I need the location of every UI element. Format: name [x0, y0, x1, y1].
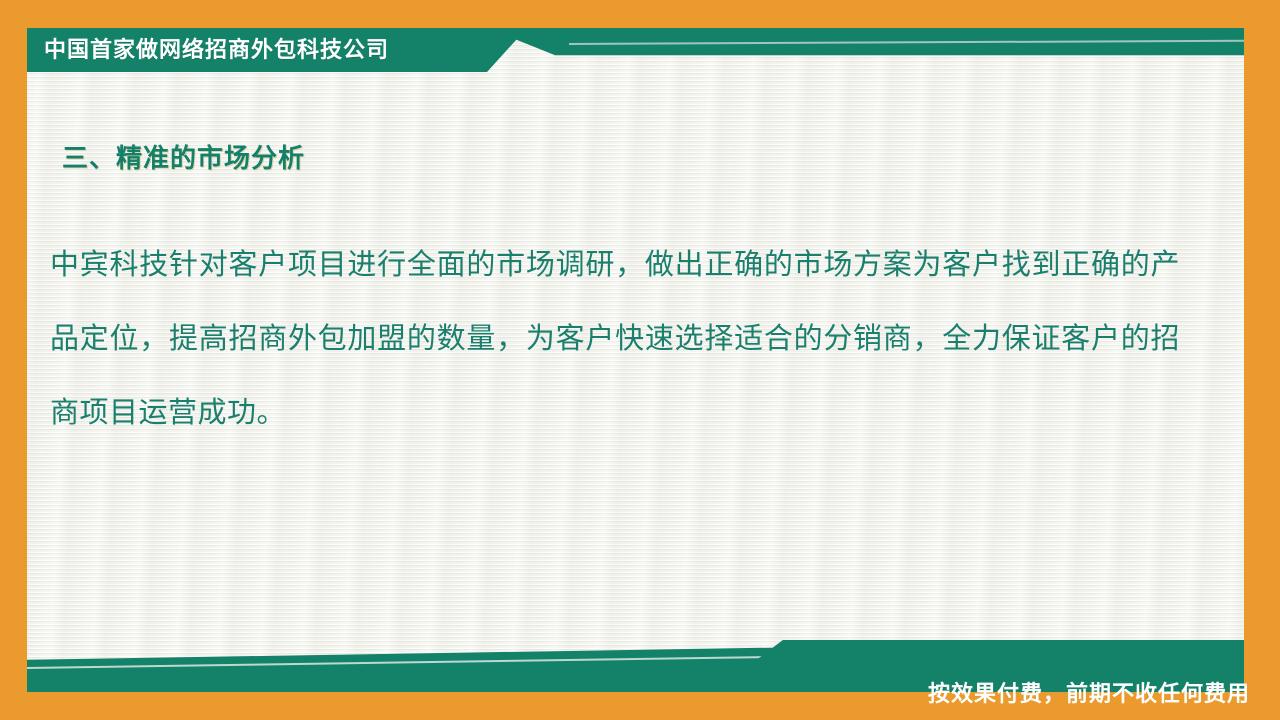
section-heading: 三、精准的市场分析: [62, 138, 305, 175]
header-title: 中国首家做网络招商外包科技公司: [44, 32, 389, 68]
body-paragraph: 中宾科技针对客户项目进行全面的市场调研，做出正确的市场方案为客户找到正确的产品定…: [50, 228, 1180, 450]
footer-slogan: 按效果付费，前期不收任何费用: [928, 676, 1250, 708]
header-green-strip: [487, 28, 1244, 72]
slide-canvas: 中国首家做网络招商外包科技公司 三、精准的市场分析 中宾科技针对客户项目进行全面…: [0, 0, 1280, 720]
